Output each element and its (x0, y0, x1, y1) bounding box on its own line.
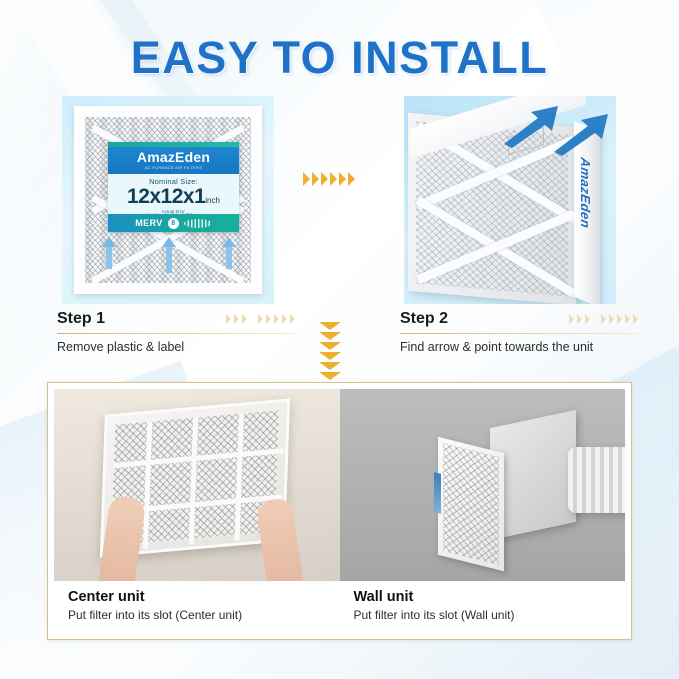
step-1-description: Remove plastic & label (57, 340, 295, 354)
airflow-arrow-icon (550, 108, 614, 156)
chevron-down-icon (319, 352, 341, 360)
airflow-arrow-icon (226, 247, 232, 269)
airflow-arrow-icon (166, 247, 172, 273)
air-filter-front: AmazEden AC FURNACE AIR FILTERS Nominal … (74, 106, 262, 294)
chevron-right-icon (290, 314, 295, 324)
wall-unit-caption: Wall unit Put filter into its slot (Wall… (340, 581, 626, 622)
step-2-image: AmazEden (404, 96, 616, 304)
merv-rating-badge: 8 (168, 218, 179, 229)
step-1-header-row: Step 1 (57, 310, 295, 328)
airflow-arrow-icon (102, 237, 116, 247)
chevron-right-icon (601, 314, 606, 324)
filter-frame-edge (78, 283, 258, 290)
center-unit-description: Put filter into its slot (Center unit) (68, 608, 340, 622)
wall-unit-title: Wall unit (354, 589, 626, 605)
label-body: Nominal Size: 12x12x1inch Actual Size: 1… (108, 174, 239, 220)
chevron-right-icon (321, 172, 328, 186)
chevron-right-icon (348, 172, 355, 186)
step-2-title: Step 2 (400, 310, 448, 328)
wall-unit-cell: Wall unit Put filter into its slot (Wall… (340, 389, 626, 633)
chevron-right-icon (339, 172, 346, 186)
filter-frame-edge (251, 110, 258, 290)
chevron-down-divider (319, 322, 341, 380)
infographic-root: EASY TO INSTALL AmazEden (0, 0, 679, 679)
filter-mesh (443, 443, 499, 565)
chevron-right-icon (274, 314, 279, 324)
center-unit-cell: Center unit Put filter into its slot (Ce… (54, 389, 340, 633)
filter-label-tab (434, 472, 441, 514)
center-unit-image (54, 389, 340, 581)
chevron-right-icon (266, 314, 271, 324)
nominal-size-value: 12x12x1inch (108, 186, 239, 207)
product-label-card: AmazEden AC FURNACE AIR FILTERS Nominal … (108, 142, 239, 232)
label-brand-bar: AmazEden AC FURNACE AIR FILTERS (108, 147, 239, 174)
step-1-title: Step 1 (57, 310, 105, 328)
chevron-right-icon (585, 314, 590, 324)
side-brand-name: AmazEden (578, 155, 593, 231)
step-2-rule (400, 333, 638, 334)
wall-unit-description: Put filter into its slot (Wall unit) (354, 608, 626, 622)
nominal-size-number: 12x12x1 (127, 185, 205, 208)
step-2-header-row: Step 2 (400, 310, 638, 328)
bottom-panel-grid: Center unit Put filter into its slot (Ce… (54, 389, 625, 633)
flexible-duct (568, 447, 626, 513)
chevron-right-icon (633, 314, 638, 324)
page-title: EASY TO INSTALL (0, 32, 679, 84)
step-1-rule (57, 333, 295, 334)
airflow-arrow-icon (162, 237, 176, 247)
chevron-right-icon (282, 314, 287, 324)
airflow-arrow-icon (106, 247, 112, 269)
chevron-right-icon (330, 172, 337, 186)
step-2-caption: Step 2 Find arrow & point towards the un… (400, 310, 638, 354)
bottom-panel: Center unit Put filter into its slot (Ce… (47, 382, 632, 640)
chevron-right-icon (234, 314, 239, 324)
chevron-right-icon (569, 314, 574, 324)
step-2-description: Find arrow & point towards the unit (400, 340, 638, 354)
filter-frame-edge (78, 110, 85, 290)
brand-name: AmazEden (108, 150, 239, 165)
chevron-right-icon (312, 172, 319, 186)
chevron-decoration (226, 314, 295, 324)
chevron-down-icon (319, 362, 341, 370)
chevron-right-icon (609, 314, 614, 324)
wave-icon (184, 219, 212, 228)
chevron-decoration (569, 314, 638, 324)
nominal-size-unit: inch (205, 196, 220, 205)
chevron-right-icon (303, 172, 310, 186)
chevron-down-icon (319, 322, 341, 330)
step-1-image: AmazEden AC FURNACE AIR FILTERS Nominal … (62, 96, 274, 304)
chevron-right-icon (577, 314, 582, 324)
chevron-right-divider (303, 172, 355, 186)
merv-label: MERV (135, 218, 162, 228)
chevron-down-icon (319, 342, 341, 350)
chevron-down-icon (319, 332, 341, 340)
chevron-right-icon (242, 314, 247, 324)
wall-unit-image (340, 389, 626, 581)
chevron-right-icon (617, 314, 622, 324)
chevron-right-icon (226, 314, 231, 324)
airflow-arrow-icon (222, 237, 236, 247)
chevron-right-icon (258, 314, 263, 324)
center-unit-title: Center unit (68, 589, 340, 605)
chevron-right-icon (625, 314, 630, 324)
step-1-caption: Step 1 Remove plastic & label (57, 310, 295, 354)
center-unit-caption: Center unit Put filter into its slot (Ce… (54, 581, 340, 622)
brand-tagline: AC FURNACE AIR FILTERS (108, 165, 239, 170)
filter-frame-edge (78, 110, 258, 117)
chevron-down-icon (319, 372, 341, 380)
merv-band: MERV 8 (108, 214, 239, 232)
wall-air-filter (438, 437, 504, 571)
